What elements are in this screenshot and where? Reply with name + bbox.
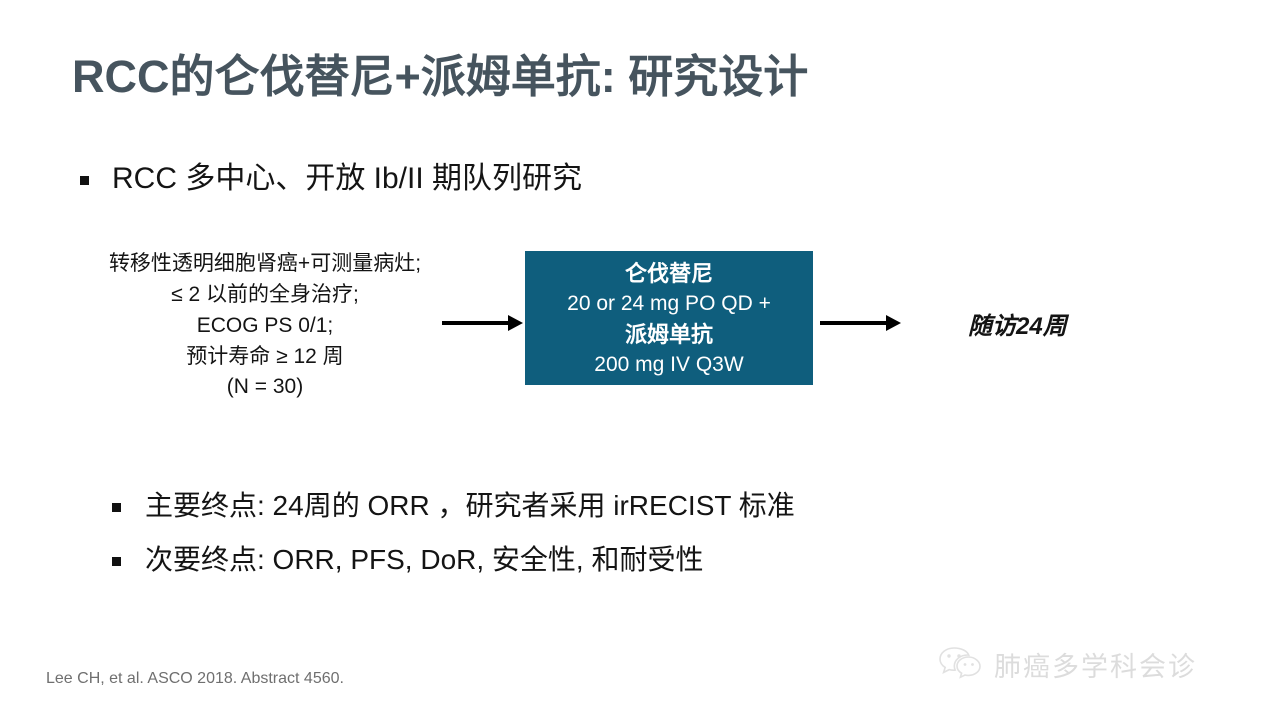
primary-endpoint-bullet: 主要终点: 24周的 ORR ，研究者采用 irRECIST 标准 — [112, 488, 795, 523]
eligibility-line-3: ECOG PS 0/1; — [70, 311, 460, 342]
slide-canvas: RCC的仑伐替尼+派姆单抗: 研究设计 RCC 多中心、开放 Ib/II 期队列… — [0, 0, 1280, 720]
eligibility-line-5: (N = 30) — [70, 372, 460, 403]
page-title: RCC的仑伐替尼+派姆单抗: 研究设计 — [72, 52, 1172, 102]
secondary-endpoint-bullet: 次要终点: ORR, PFS, DoR, 安全性, 和耐受性 — [112, 542, 703, 577]
arrow-shaft — [442, 321, 510, 325]
wechat-icon — [938, 645, 984, 684]
arrow-head — [508, 315, 523, 331]
treatment-drug-2-dose: 200 mg IV Q3W — [594, 350, 743, 380]
treatment-arm-box: 仑伐替尼 20 or 24 mg PO QD + 派姆单抗 200 mg IV … — [525, 251, 813, 385]
treatment-drug-2-name: 派姆单抗 — [625, 319, 713, 350]
arrow-shaft — [820, 321, 888, 325]
square-bullet-icon — [80, 176, 89, 185]
square-bullet-icon — [112, 503, 121, 512]
study-type-text: RCC 多中心、开放 Ib/II 期队列研究 — [112, 160, 582, 198]
eligibility-line-1: 转移性透明细胞肾癌+可测量病灶; — [70, 249, 460, 280]
study-type-bullet: RCC 多中心、开放 Ib/II 期队列研究 — [80, 160, 582, 198]
arrow-head — [886, 315, 901, 331]
eligibility-line-4: 预计寿命 ≥ 12 周 — [70, 342, 460, 373]
citation-text: Lee CH, et al. ASCO 2018. Abstract 4560. — [46, 670, 344, 688]
followup-label: 随访24周 — [968, 306, 1067, 341]
eligibility-line-2: ≤ 2 以前的全身治疗; — [70, 280, 460, 311]
square-bullet-icon — [112, 557, 121, 566]
right-arrow-icon-left — [442, 313, 524, 333]
right-arrow-icon-right — [820, 313, 902, 333]
treatment-drug-1-name: 仑伐替尼 — [625, 258, 713, 289]
watermark-text: 肺癌多学科会诊 — [994, 645, 1197, 684]
watermark: 肺癌多学科会诊 — [938, 645, 1197, 684]
secondary-endpoint-text: 次要终点: ORR, PFS, DoR, 安全性, 和耐受性 — [145, 542, 703, 577]
primary-endpoint-text: 主要终点: 24周的 ORR ，研究者采用 irRECIST 标准 — [145, 488, 795, 523]
eligibility-criteria-block: 转移性透明细胞肾癌+可测量病灶; ≤ 2 以前的全身治疗; ECOG PS 0/… — [70, 249, 460, 403]
treatment-drug-1-dose: 20 or 24 mg PO QD + — [567, 289, 771, 319]
